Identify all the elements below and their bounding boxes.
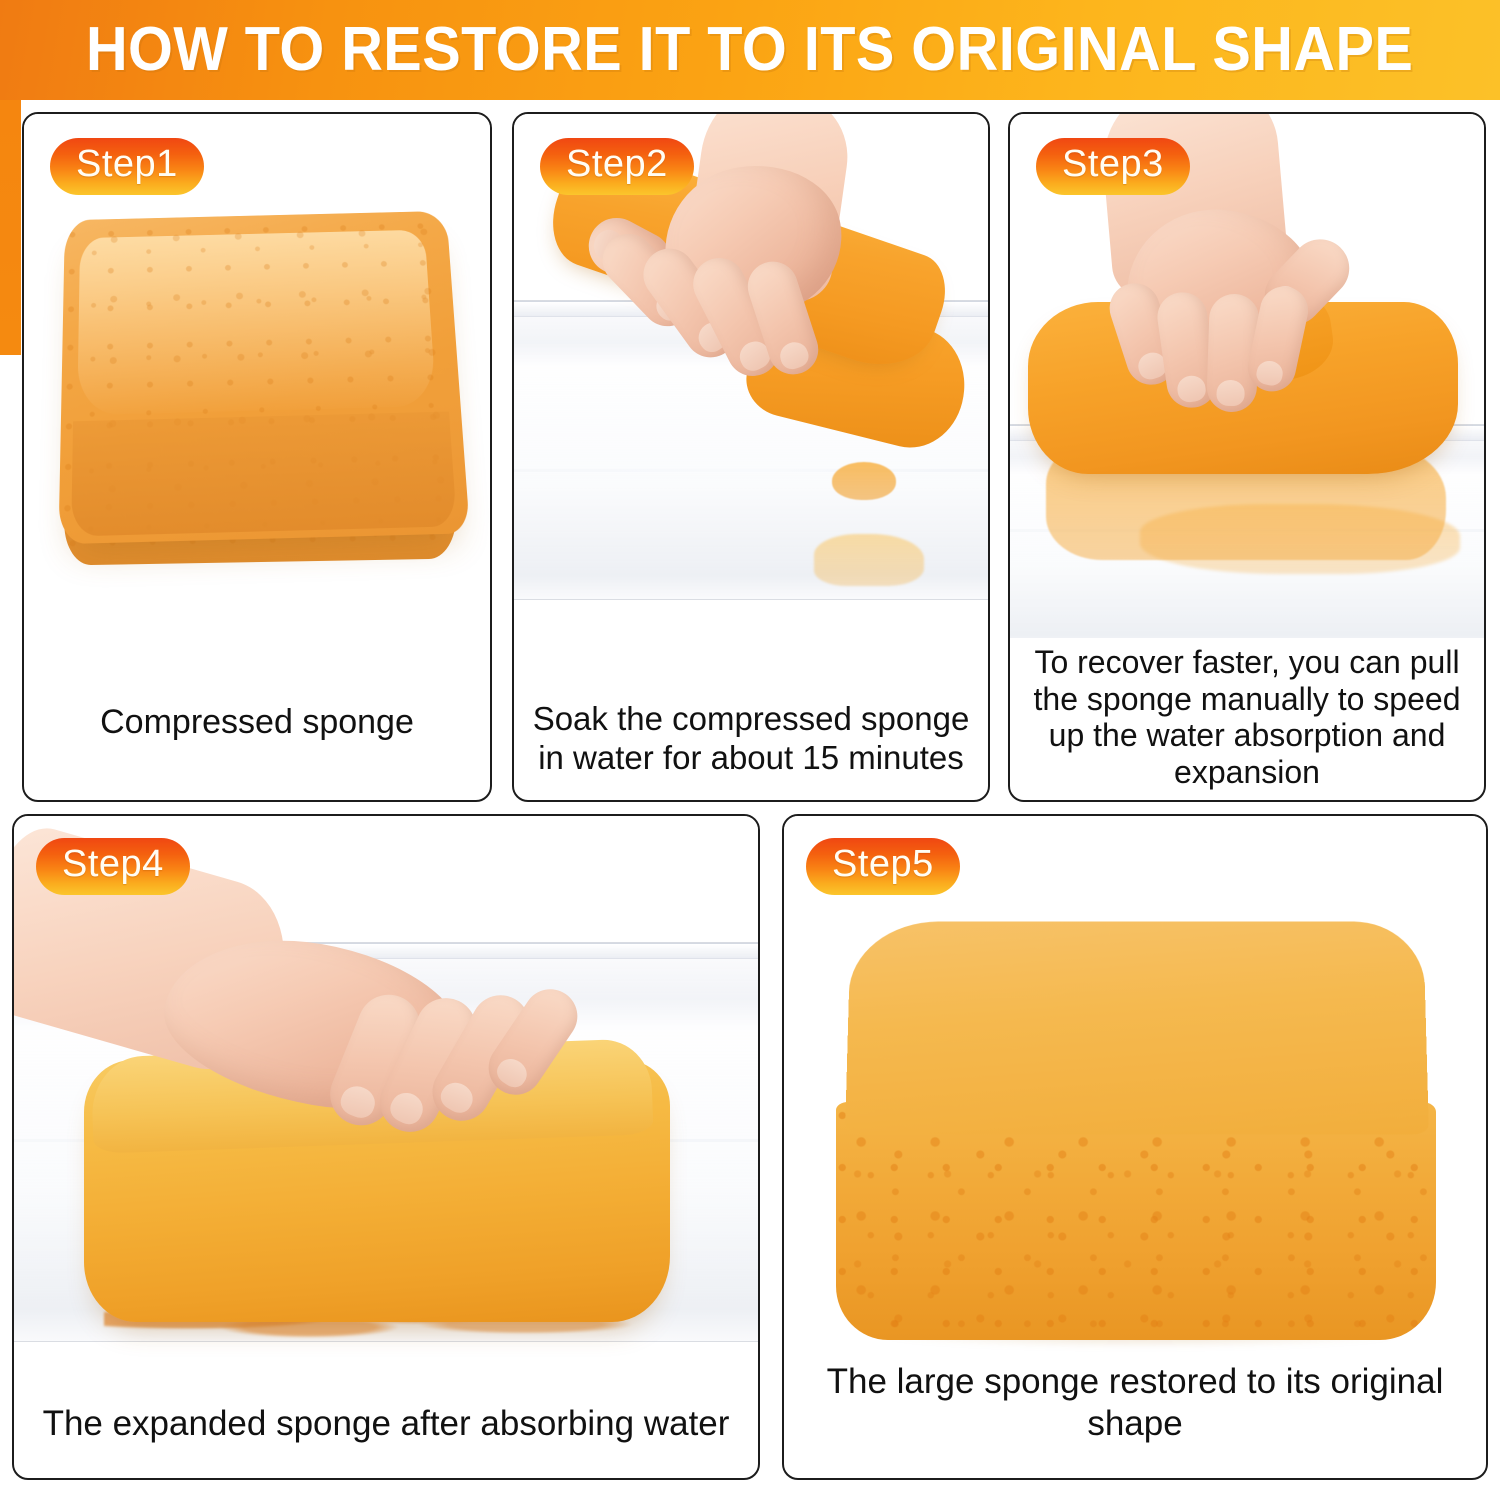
- step-4-caption: The expanded sponge after absorbing wate…: [14, 1397, 758, 1478]
- step-card-2[interactable]: Step2: [512, 112, 990, 802]
- step-card-1[interactable]: Step1 Compressed sponge: [22, 112, 492, 802]
- step-card-3[interactable]: Step3: [1008, 112, 1486, 802]
- step-3-photo: Step3: [1010, 114, 1484, 638]
- scene-compressed-sponge-slab: [24, 114, 490, 696]
- sponge-pores-icon: [836, 1102, 1436, 1340]
- scene-expanded-sponge: [14, 816, 758, 1397]
- step-card-4[interactable]: Step4 The expanded spo: [12, 814, 760, 1480]
- steps-grid: Step1 Compressed sponge Step2: [0, 100, 1500, 1493]
- step-card-5[interactable]: Step5 The large sponge restored to its o…: [782, 814, 1488, 1480]
- step-2-caption: Soak the compressed sponge in water for …: [514, 694, 988, 800]
- header-banner: HOW TO RESTORE IT TO ITS ORIGINAL SHAPE: [0, 0, 1500, 100]
- compressed-sponge-icon: [58, 211, 470, 544]
- page-title: HOW TO RESTORE IT TO ITS ORIGINAL SHAPE: [86, 19, 1413, 81]
- step-badge-3: Step3: [1036, 138, 1190, 195]
- scene-soaking-sponge: [514, 114, 988, 694]
- step-2-photo: Step2: [514, 114, 988, 694]
- step-3-caption: To recover faster, you can pull the spon…: [1010, 638, 1484, 800]
- step-badge-1: Step1: [50, 138, 204, 195]
- waterline: [514, 469, 988, 472]
- step-5-caption: The large sponge restored to its origina…: [784, 1355, 1486, 1478]
- step-4-photo: Step4: [14, 816, 758, 1397]
- step-badge-2: Step2: [540, 138, 694, 195]
- step-1-caption: Compressed sponge: [24, 696, 490, 800]
- submerged-sponge-icon: [814, 534, 924, 586]
- step-badge-5: Step5: [806, 838, 960, 895]
- sponge-pores-icon: [58, 211, 470, 544]
- water-drip-icon: [832, 462, 896, 500]
- infographic-root: HOW TO RESTORE IT TO ITS ORIGINAL SHAPE …: [0, 0, 1500, 1493]
- restored-sponge-top-face: [845, 922, 1429, 1135]
- step-badge-4: Step4: [36, 838, 190, 895]
- step-1-photo: Step1: [24, 114, 490, 696]
- restored-sponge-icon: [836, 1102, 1436, 1340]
- scene-restored-sponge: [784, 816, 1486, 1355]
- step-5-photo: Step5: [784, 816, 1486, 1355]
